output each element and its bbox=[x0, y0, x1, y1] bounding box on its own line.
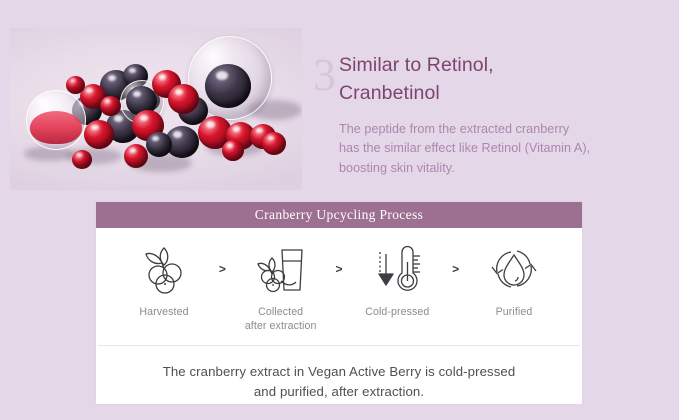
cranberry bbox=[72, 150, 92, 169]
berry-highlight bbox=[268, 136, 274, 141]
berry-highlight bbox=[71, 79, 76, 83]
berry-highlight bbox=[108, 75, 116, 81]
berry-highlight bbox=[216, 71, 228, 80]
upcycling-process-panel: Cranberry Upcycling Process Harvested > bbox=[95, 201, 583, 405]
droplet-recycle-icon bbox=[487, 242, 541, 296]
process-step-purified: Purified bbox=[466, 242, 562, 319]
cranberry bbox=[168, 84, 199, 114]
chevron-glyph: > bbox=[452, 262, 459, 276]
berry-highlight bbox=[256, 128, 263, 133]
process-steps: Harvested > Collect bbox=[96, 228, 582, 345]
dark-berry bbox=[146, 132, 172, 157]
berry-highlight bbox=[105, 99, 110, 103]
panel-header-title: Cranberry Upcycling Process bbox=[255, 207, 423, 223]
panel-caption: The cranberry extract in Vegan Active Be… bbox=[96, 346, 582, 403]
step-number: 3 bbox=[313, 52, 336, 98]
berry-highlight bbox=[173, 131, 182, 137]
glass-highlight bbox=[34, 96, 50, 105]
juice bbox=[30, 111, 81, 145]
berry-highlight bbox=[133, 91, 141, 97]
berry-highlight bbox=[227, 143, 233, 147]
berry-highlight bbox=[152, 136, 159, 141]
thermometer-down-arrow-icon bbox=[370, 242, 424, 296]
process-step-label: Collected after extraction bbox=[245, 305, 317, 333]
berry-highlight bbox=[233, 126, 241, 132]
cranberry-photo bbox=[10, 28, 302, 190]
berry-highlight bbox=[159, 74, 167, 80]
chevron-right-icon: > bbox=[330, 242, 348, 296]
berry-highlight bbox=[140, 115, 148, 121]
page-title: Similar to Retinol, Cranbetinol bbox=[339, 52, 494, 107]
berries-icon bbox=[138, 242, 190, 296]
berry-highlight bbox=[175, 89, 183, 95]
berry-highlight bbox=[91, 125, 99, 131]
process-step-label: Purified bbox=[496, 305, 533, 319]
berry-highlight bbox=[206, 121, 215, 128]
cranberry bbox=[124, 144, 148, 168]
hero-section: 3 Similar to Retinol, Cranbetinol The pe… bbox=[0, 0, 679, 196]
cranberry bbox=[84, 120, 114, 149]
chevron-right-icon: > bbox=[213, 242, 231, 296]
berry-highlight bbox=[130, 148, 136, 153]
process-step-collected: Collected after extraction bbox=[233, 242, 329, 333]
page-description: The peptide from the extracted cranberry… bbox=[339, 120, 661, 178]
cranberry bbox=[100, 96, 121, 116]
berry-highlight bbox=[86, 88, 93, 93]
cranberry bbox=[66, 76, 85, 94]
cranberry bbox=[262, 132, 286, 155]
process-step-harvested: Harvested bbox=[116, 242, 212, 319]
berry-highlight bbox=[77, 153, 82, 157]
cranberry bbox=[222, 140, 244, 161]
berry-highlight bbox=[129, 68, 136, 73]
panel-header: Cranberry Upcycling Process bbox=[96, 202, 582, 228]
process-step-label: Cold-pressed bbox=[365, 305, 429, 319]
chevron-glyph: > bbox=[219, 262, 226, 276]
process-step-cold-pressed: Cold-pressed bbox=[349, 242, 445, 319]
glass-with-berries-icon bbox=[254, 242, 308, 296]
dark-berry bbox=[205, 64, 251, 108]
berry-highlight bbox=[114, 115, 123, 122]
chevron-right-icon: > bbox=[447, 242, 465, 296]
process-step-label: Harvested bbox=[139, 305, 188, 319]
chevron-glyph: > bbox=[335, 262, 342, 276]
